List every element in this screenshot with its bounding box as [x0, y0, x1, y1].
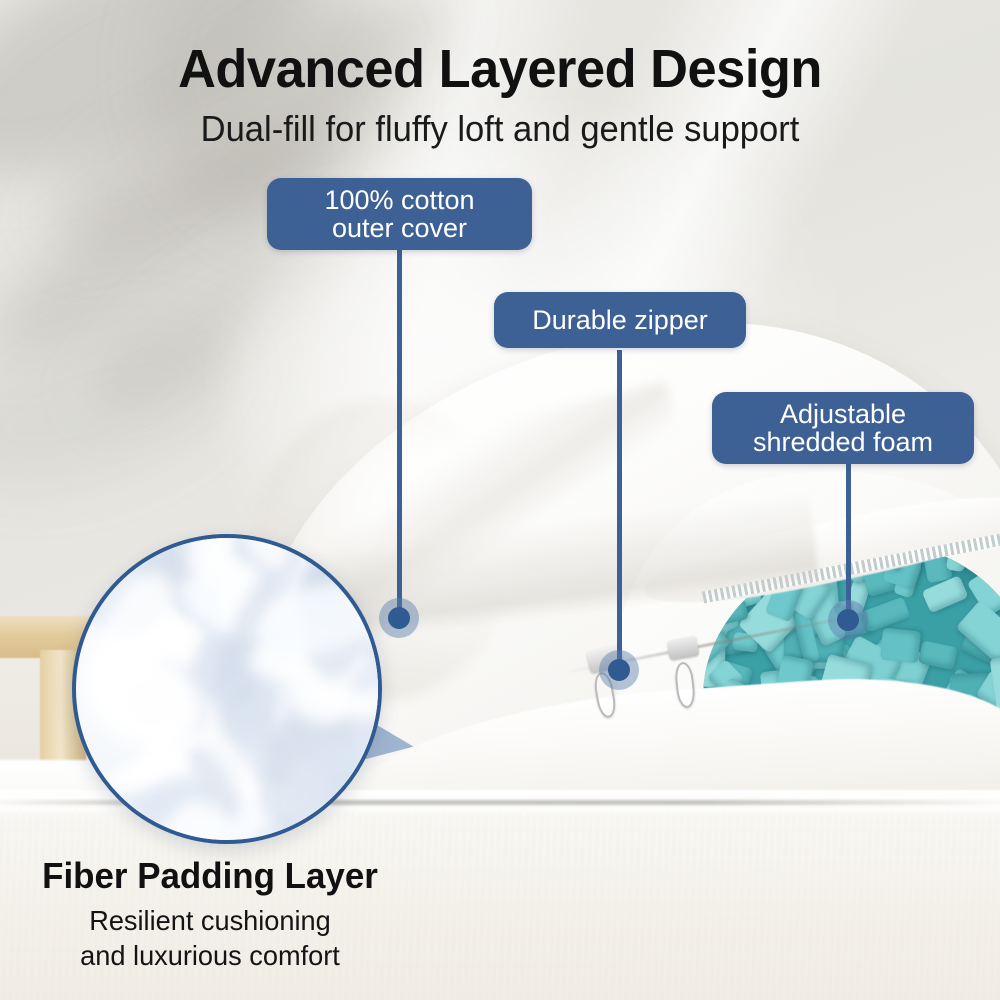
callout-cotton-cover-line2: outer cover — [332, 214, 467, 242]
callout-durable-zipper[interactable]: Durable zipper — [494, 292, 746, 348]
callout-shredded-foam-line2: shredded foam — [753, 428, 933, 456]
fiber-padding-inset — [72, 534, 382, 844]
callout-cotton-cover[interactable]: 100% cotton outer cover — [267, 178, 532, 250]
callout-shredded-foam-line1: Adjustable — [780, 400, 906, 428]
callout-shredded-foam[interactable]: Adjustable shredded foam — [712, 392, 974, 464]
callout-durable-zipper-line1: Durable zipper — [532, 306, 708, 334]
callout-cotton-cover-line1: 100% cotton — [324, 186, 474, 214]
page-subtitle: Dual-fill for fluffy loft and gentle sup… — [20, 108, 980, 150]
leader-line-durable-zipper — [617, 350, 622, 668]
marker-dot-shredded-foam — [837, 609, 859, 631]
page-title: Advanced Layered Design — [15, 38, 985, 100]
inset-caption-title: Fiber Padding Layer — [6, 855, 413, 897]
marker-dot-cotton-cover — [388, 607, 410, 629]
leader-line-cotton-cover — [397, 248, 402, 618]
marker-dot-durable-zipper — [608, 659, 630, 681]
inset-caption-line1: Resilient cushioning — [6, 905, 413, 937]
leader-line-shredded-foam — [846, 462, 851, 620]
foam-chunk — [880, 628, 921, 663]
inset-caption-line2: and luxurious comfort — [6, 940, 413, 972]
